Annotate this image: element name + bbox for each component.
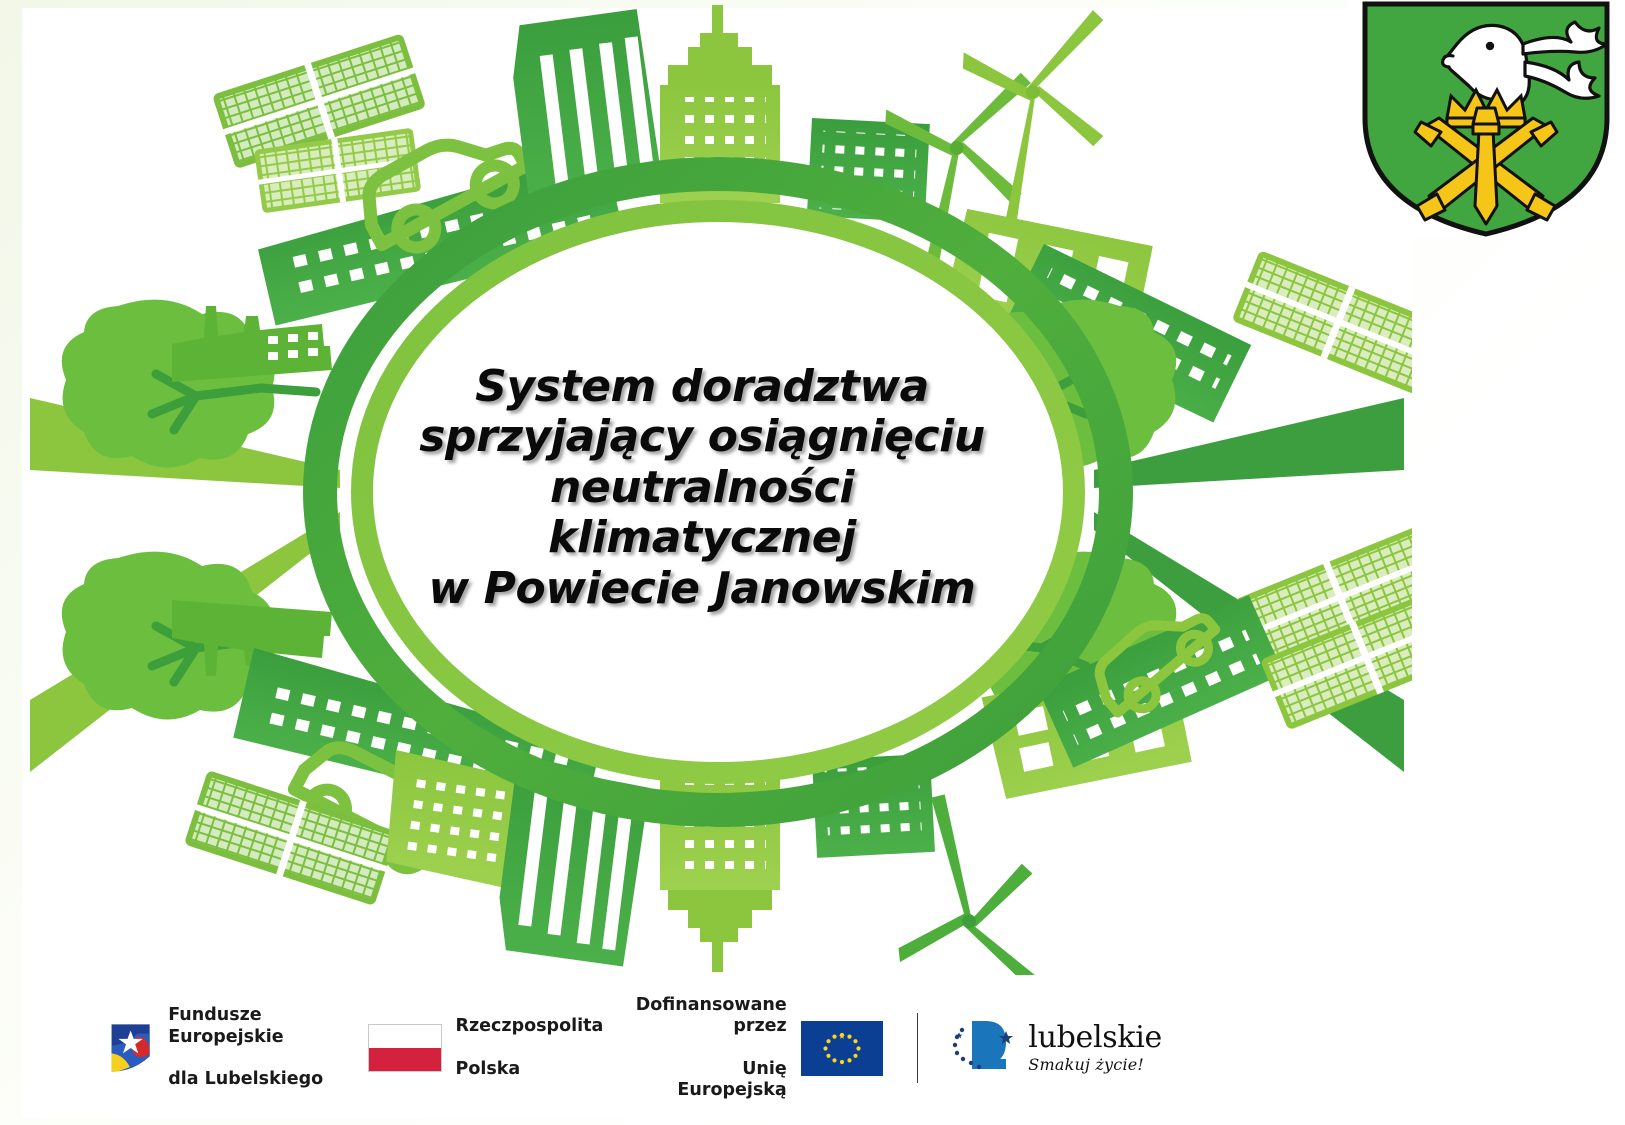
fe-line-2: dla Lubelskiego (168, 1069, 332, 1090)
logo-lubelskie: lubelskie Smakuj życie! (948, 1017, 1162, 1079)
logo-rzeczpospolita-polska: Rzeczpospolita Polska (368, 995, 604, 1102)
wind-turbine (934, 0, 1124, 246)
rp-line-1: Rzeczpospolita (456, 1016, 604, 1037)
lubelskie-wordmark: lubelskie (1028, 1023, 1162, 1053)
ue-line-1: Dofinansowane przez (636, 995, 787, 1038)
fundusze-europejskie-icon (107, 1015, 154, 1081)
green-ring (320, 174, 1116, 810)
coat-of-arms-icon (1365, 4, 1607, 234)
eu-flag-icon (801, 1021, 883, 1076)
ue-line-2: Unię Europejską (636, 1059, 787, 1102)
logo-divider (917, 1013, 919, 1083)
lubelskie-wordmark-block: lubelskie Smakuj życie! (1028, 1023, 1162, 1073)
lubelskie-tagline: Smakuj życie! (1028, 1057, 1162, 1073)
presentation-slide: System doradztwa sprzyjający osiągnięciu… (0, 0, 1625, 1125)
logo-dofinansowane-ue: Dofinansowane przez Unię Europejską (636, 973, 883, 1122)
dofinansowane-label: Dofinansowane przez Unię Europejską (636, 973, 787, 1122)
coat-of-arms (1347, 0, 1625, 238)
funding-logo-bar: Fundusze Europejskie dla Lubelskiego Rze… (22, 978, 1162, 1118)
fe-line-1: Fundusze Europejskie (168, 1005, 332, 1048)
poland-flag-icon (368, 1024, 442, 1072)
lubelskie-logo-icon (948, 1017, 1014, 1079)
eco-illustration (22, 0, 1412, 975)
fundusze-europejskie-label: Fundusze Europejskie dla Lubelskiego (168, 984, 332, 1112)
logo-fundusze-europejskie: Fundusze Europejskie dla Lubelskiego (107, 984, 332, 1112)
rzeczpospolita-polska-label: Rzeczpospolita Polska (456, 995, 604, 1102)
left-scenery (62, 300, 332, 720)
rp-line-2: Polska (456, 1059, 604, 1080)
solar-panel (1232, 250, 1412, 395)
